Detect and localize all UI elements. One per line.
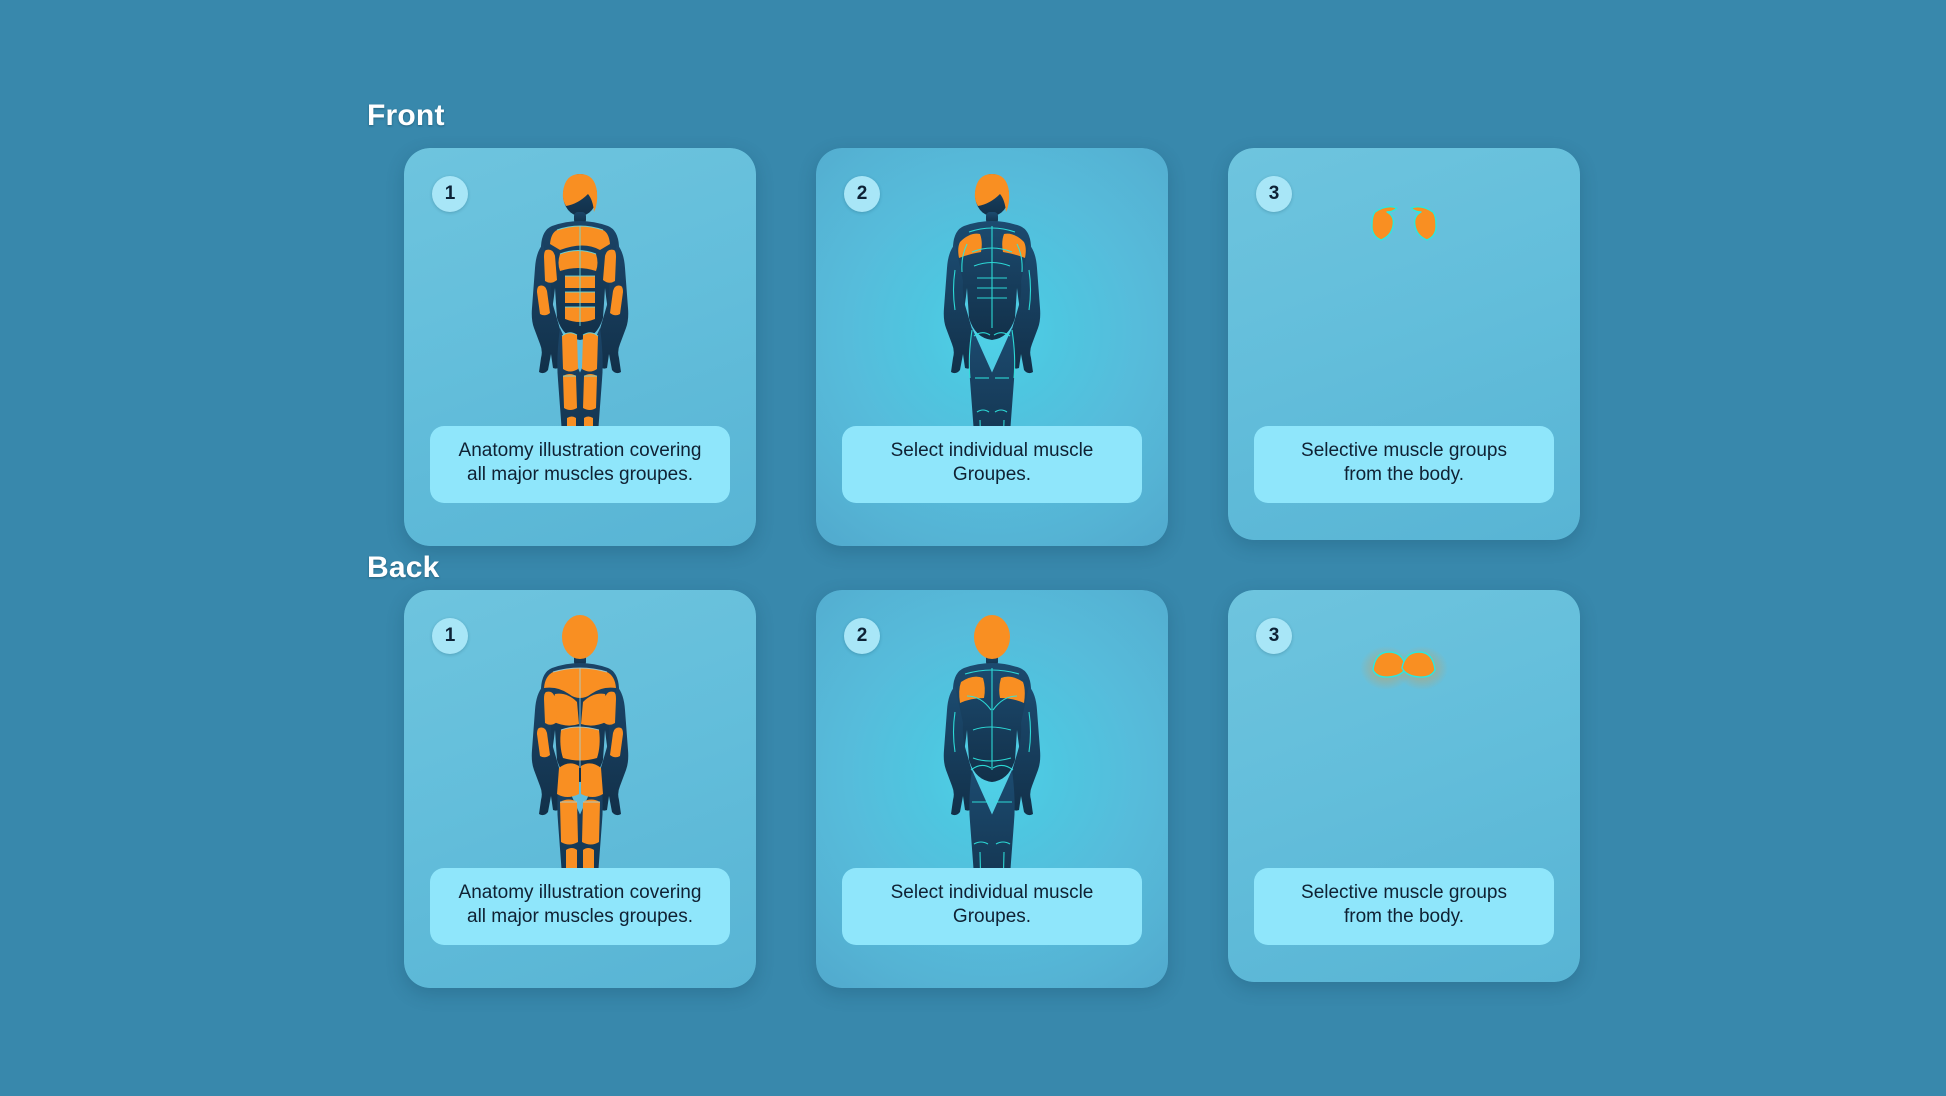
anatomy-figure-front-outline[interactable] [816, 170, 1168, 470]
caption-line-1: Anatomy illustration covering [442, 439, 718, 463]
anatomy-figure-front-highlighted[interactable] [404, 170, 756, 470]
page-stage: Front 1 [0, 0, 1946, 1096]
caption-line-1: Selective muscle groups [1266, 881, 1542, 905]
card-caption: Selective muscle groups from the body. [1254, 426, 1554, 503]
caption-line-2: Groupes. [854, 463, 1130, 487]
card-caption: Anatomy illustration covering all major … [430, 426, 730, 503]
selected-muscle-group-front-deltoids[interactable] [1228, 198, 1580, 288]
card-back-1[interactable]: 1 [404, 590, 756, 988]
caption-line-1: Anatomy illustration covering [442, 881, 718, 905]
caption-line-1: Select individual muscle [854, 881, 1130, 905]
card-caption: Selective muscle groups from the body. [1254, 868, 1554, 945]
card-caption: Anatomy illustration covering all major … [430, 868, 730, 945]
section-heading-back: Back [367, 551, 440, 585]
caption-line-2: from the body. [1266, 463, 1542, 487]
caption-line-2: all major muscles groupes. [442, 463, 718, 487]
card-front-1[interactable]: 1 [404, 148, 756, 546]
caption-line-1: Selective muscle groups [1266, 439, 1542, 463]
caption-line-1: Select individual muscle [854, 439, 1130, 463]
card-back-3[interactable]: 3 Selective muscle groups from the body. [1228, 590, 1580, 982]
caption-line-2: all major muscles groupes. [442, 905, 718, 929]
card-caption: Select individual muscle Groupes. [842, 426, 1142, 503]
caption-line-2: Groupes. [854, 905, 1130, 929]
anatomy-figure-back-outline[interactable] [816, 612, 1168, 912]
card-front-2[interactable]: 2 [816, 148, 1168, 546]
selected-muscle-group-back-deltoids[interactable] [1228, 640, 1580, 730]
card-back-2[interactable]: 2 [816, 590, 1168, 988]
card-front-3[interactable]: 3 Selective muscle groups from the body. [1228, 148, 1580, 540]
anatomy-figure-back-highlighted[interactable] [404, 612, 756, 912]
caption-line-2: from the body. [1266, 905, 1542, 929]
card-caption: Select individual muscle Groupes. [842, 868, 1142, 945]
section-heading-front: Front [367, 99, 445, 133]
